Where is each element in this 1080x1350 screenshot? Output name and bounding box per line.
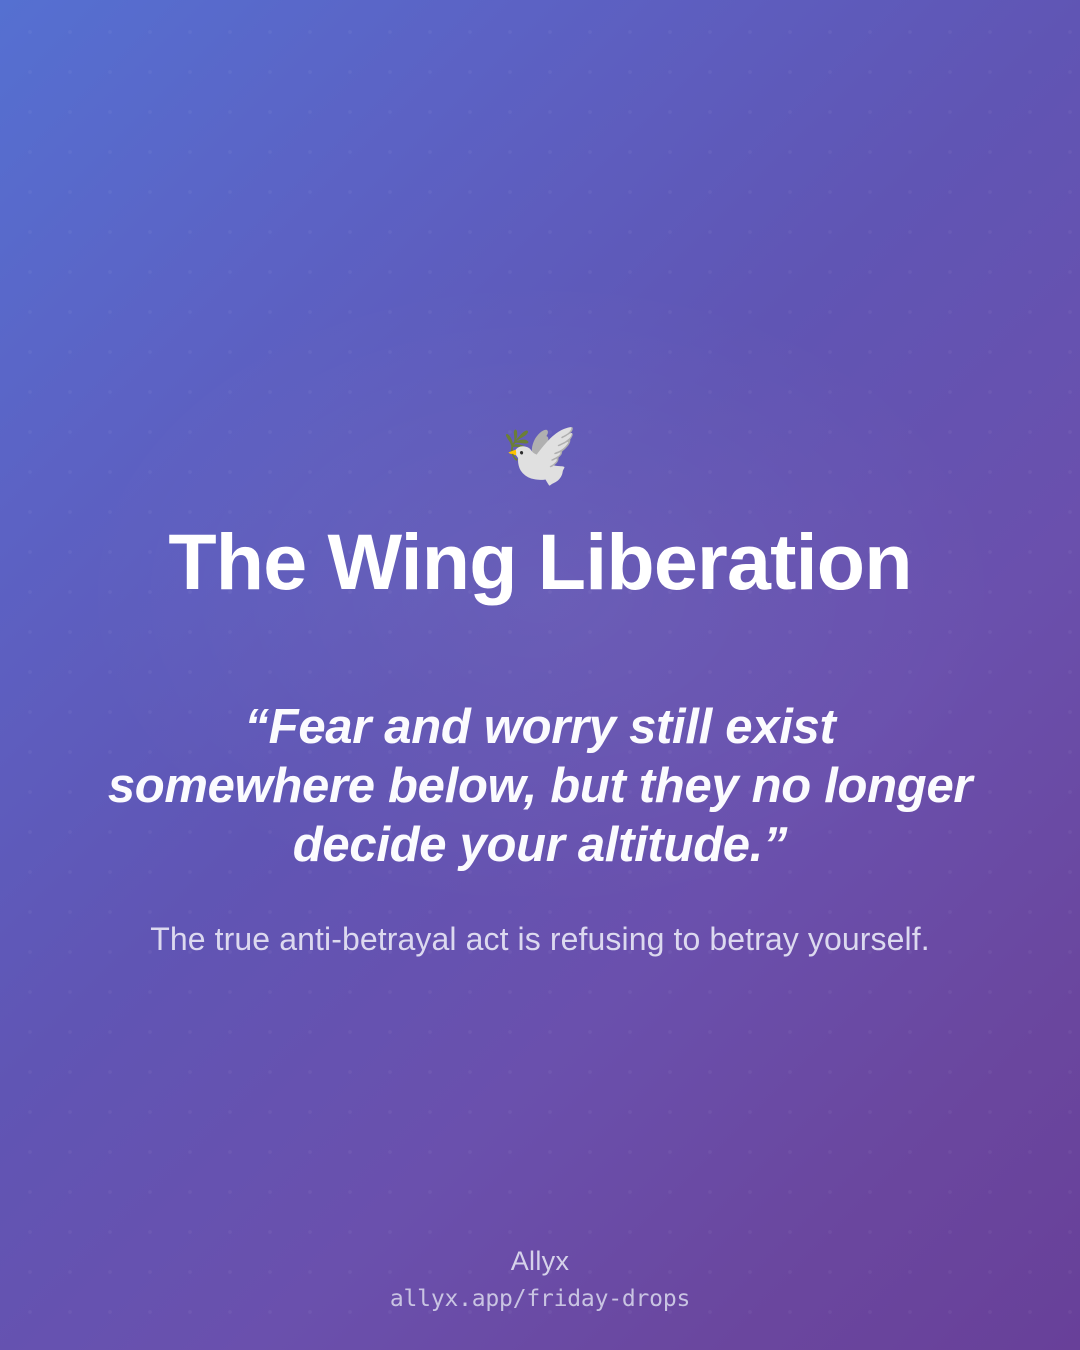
dove-emoji: 🕊️ [501,416,578,494]
card-footer: Allyx allyx.app/friday-drops [0,1245,1080,1315]
card-content: 🕊️ The Wing Liberation “Fear and worry s… [0,0,1080,1350]
brand-name: Allyx [511,1245,570,1279]
quote-line: somewhere below, but they no longer [108,759,972,813]
subtitle-text: The true anti-betrayal act is refusing t… [70,918,1010,961]
quote-card: 🕊️ The Wing Liberation “Fear and worry s… [0,0,1080,1350]
brand-url[interactable]: allyx.app/friday-drops [390,1285,690,1314]
page-title: The Wing Liberation [60,522,1020,601]
quote-line: decide your altitude.” [293,818,787,872]
quote-line: “Fear and worry still exist [244,700,835,754]
quote-text: “Fear and worry still exist somewhere be… [85,698,995,874]
